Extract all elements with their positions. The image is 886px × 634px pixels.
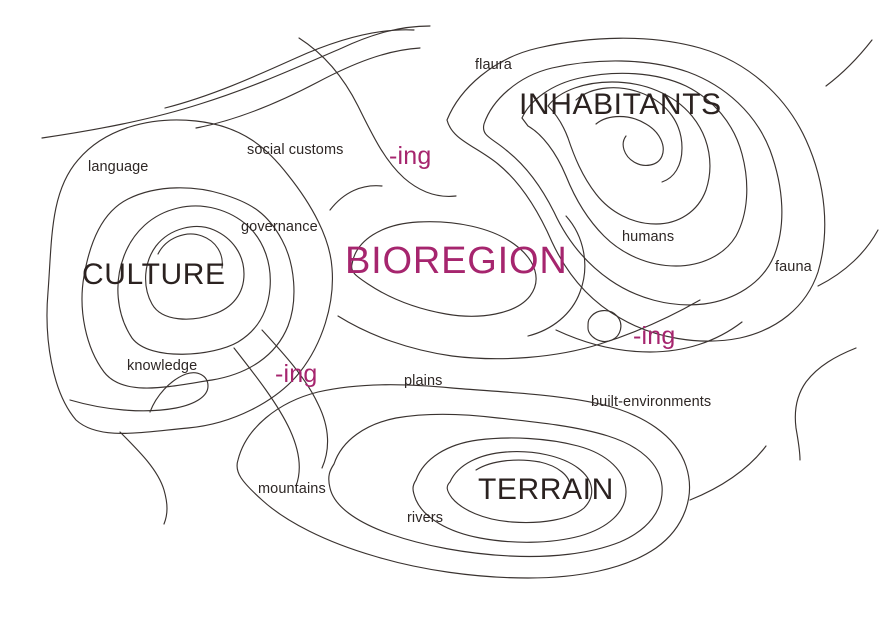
stray-line-top-right-edge: [826, 40, 872, 86]
satellite-label-humans[interactable]: humans: [622, 229, 674, 245]
contour-line-layer: [0, 0, 886, 634]
satellite-label-mountains[interactable]: mountains: [258, 481, 326, 497]
ridge-top-arc-2: [196, 48, 420, 128]
ridge-culture-inhabitants: [299, 38, 456, 196]
satellite-label-language[interactable]: language: [88, 159, 148, 175]
stray-line-bottom-right: [690, 446, 766, 500]
domain-label-culture[interactable]: CULTURE: [82, 258, 226, 292]
diagram-canvas: BIOREGION CULTURE language social custom…: [0, 0, 886, 634]
connector-label-ing-inhabitants-terrain[interactable]: -ing: [633, 322, 676, 351]
stray-line-left-lower: [70, 373, 208, 412]
stray-line-right-upper: [818, 230, 878, 286]
satellite-label-social-customs[interactable]: social customs: [247, 142, 344, 158]
satellite-label-rivers[interactable]: rivers: [407, 510, 443, 526]
domain-label-inhabitants[interactable]: INHABITANTS: [519, 88, 722, 122]
satellite-label-governance[interactable]: governance: [241, 219, 318, 235]
ridge-top-long: [42, 26, 430, 138]
inhabitants-contour-outer: [447, 38, 825, 341]
bioregion-contour-outer-left: [330, 186, 382, 210]
satellite-label-knowledge[interactable]: knowledge: [127, 358, 197, 374]
stray-line-left-mid: [120, 432, 167, 524]
connector-label-ing-culture-terrain[interactable]: -ing: [275, 360, 318, 389]
small-blob: [588, 311, 621, 342]
satellite-label-built-environments[interactable]: built-environments: [591, 394, 711, 410]
domain-label-terrain[interactable]: TERRAIN: [478, 473, 614, 507]
inhabitants-contour-inner-swirl: [596, 117, 663, 166]
center-node-bioregion[interactable]: BIOREGION: [345, 240, 568, 283]
connector-label-ing-culture-inhabitants[interactable]: -ing: [389, 142, 432, 171]
satellite-label-plains[interactable]: plains: [404, 373, 443, 389]
satellite-label-flaura[interactable]: flaura: [475, 57, 512, 73]
satellite-label-fauna[interactable]: fauna: [775, 259, 812, 275]
stray-line-right-mid: [795, 348, 856, 460]
